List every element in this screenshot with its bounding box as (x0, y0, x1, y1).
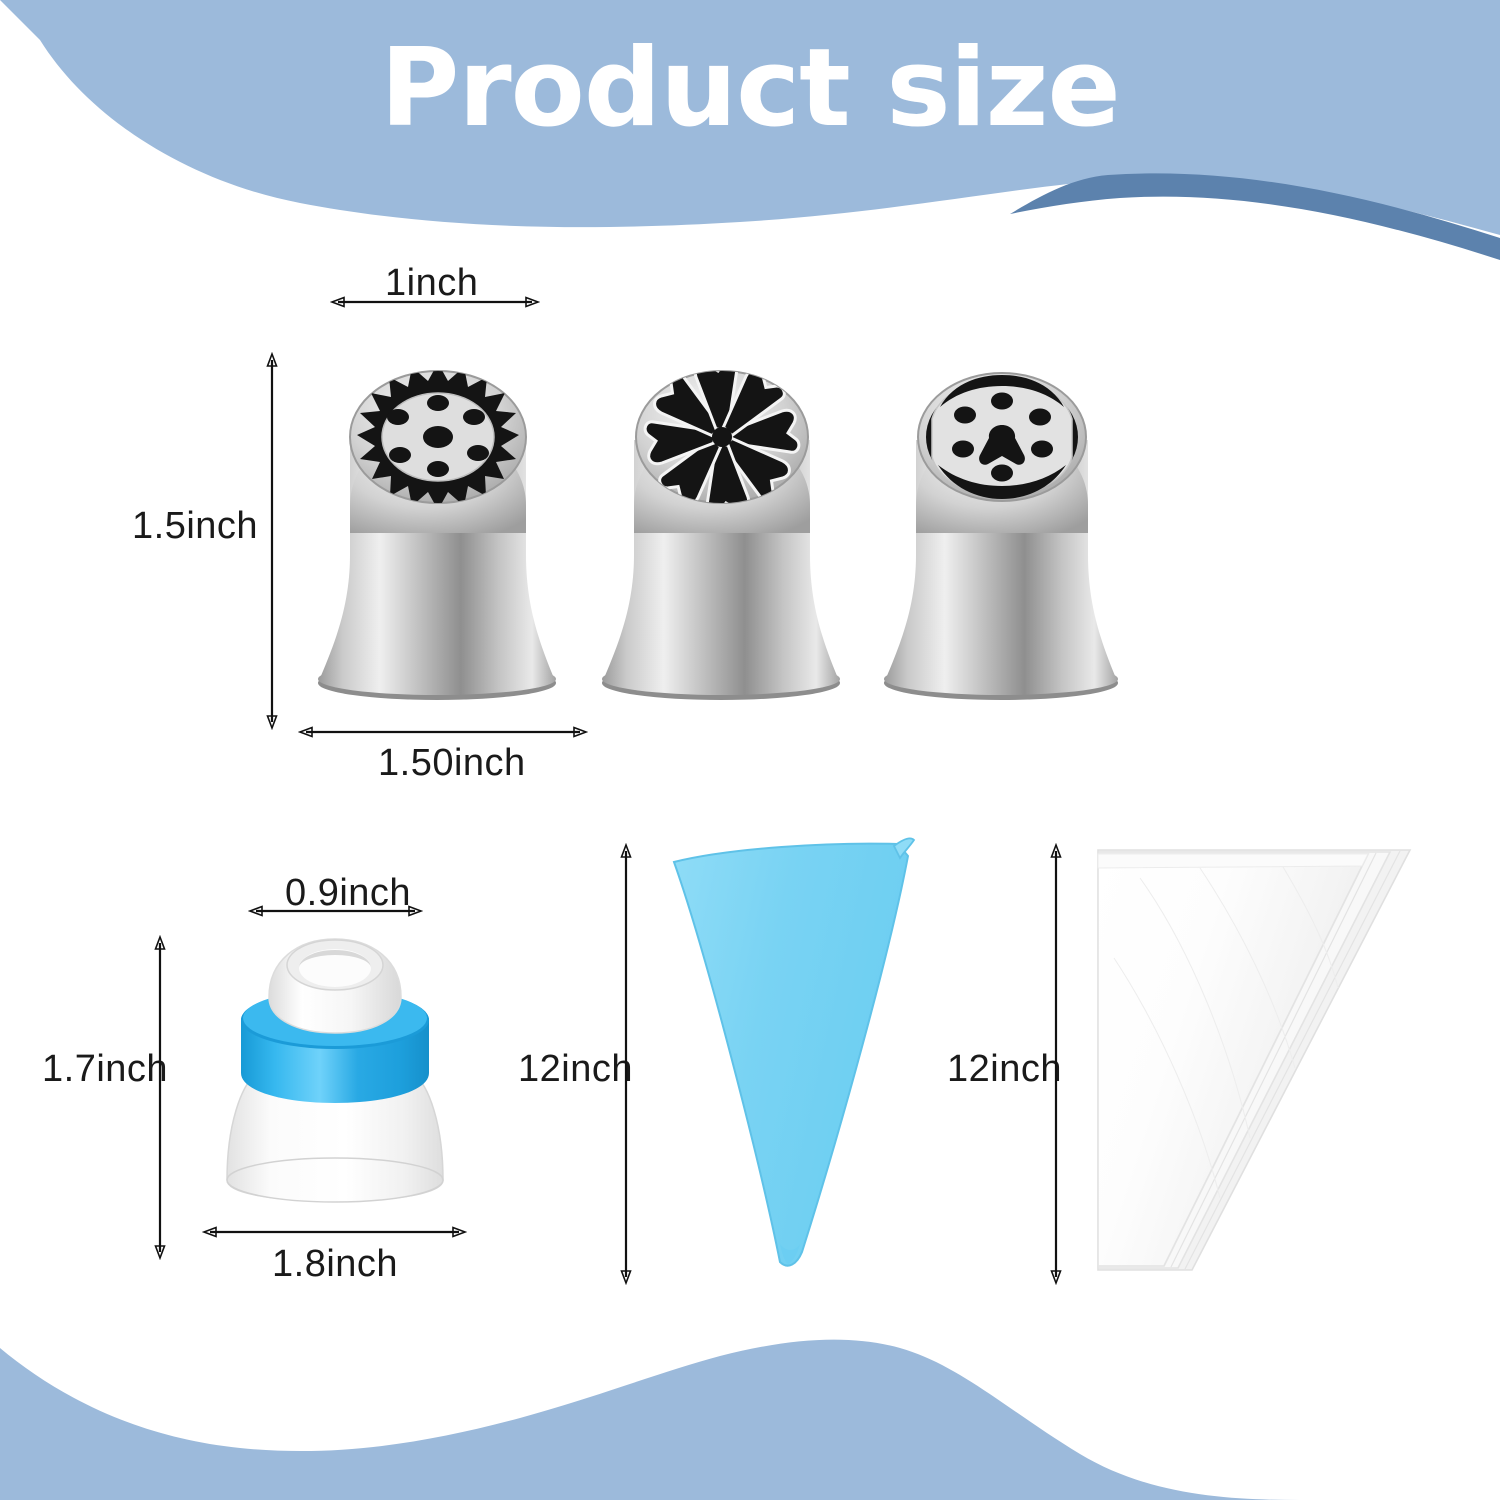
dimension-arrow-nozzle-height (262, 352, 282, 730)
dimension-arrow-pastry-bag-height (1046, 843, 1066, 1285)
nozzle-base-highlight (884, 663, 1118, 695)
product-coupler (185, 925, 485, 1225)
product-pastry-bags (1080, 838, 1480, 1298)
pastry-bag-layer-front (1098, 854, 1368, 1266)
dimension-arrow-coupler-top-width (248, 901, 423, 921)
coupler-base-bottom (227, 1158, 443, 1202)
product-silicone-bag (640, 832, 940, 1292)
dimension-label-coupler-base-width: 1.8inch (272, 1243, 398, 1286)
dimension-arrow-silicone-bag-height (616, 843, 636, 1285)
product-nozzle-sunburst (288, 345, 588, 730)
product-nozzle-dotted (852, 345, 1152, 730)
product-nozzle-flower (572, 345, 872, 730)
dimension-label-nozzle-height: 1.5inch (132, 505, 258, 548)
header-band-accent (1010, 173, 1500, 260)
pastry-bag-top-edge (1098, 854, 1368, 868)
footer-band (0, 1340, 1500, 1500)
product-size-infographic: Product size 1inch 1.5inch 1.50inch (0, 0, 1500, 1500)
silicone-bag-body (674, 844, 908, 1266)
nozzle-base-highlight (318, 663, 556, 695)
nozzle-base-highlight (602, 663, 840, 695)
dimension-label-pastry-bag-height: 12inch (947, 1048, 1062, 1091)
dimension-arrow-coupler-height (150, 935, 170, 1260)
dimension-label-nozzle-base-width: 1.50inch (378, 742, 526, 785)
page-title: Product size (0, 30, 1500, 149)
footer-wave-decoration (0, 1320, 1500, 1500)
dimension-arrow-coupler-base-width (202, 1222, 467, 1242)
dimension-arrow-nozzle-top-width (330, 292, 540, 312)
